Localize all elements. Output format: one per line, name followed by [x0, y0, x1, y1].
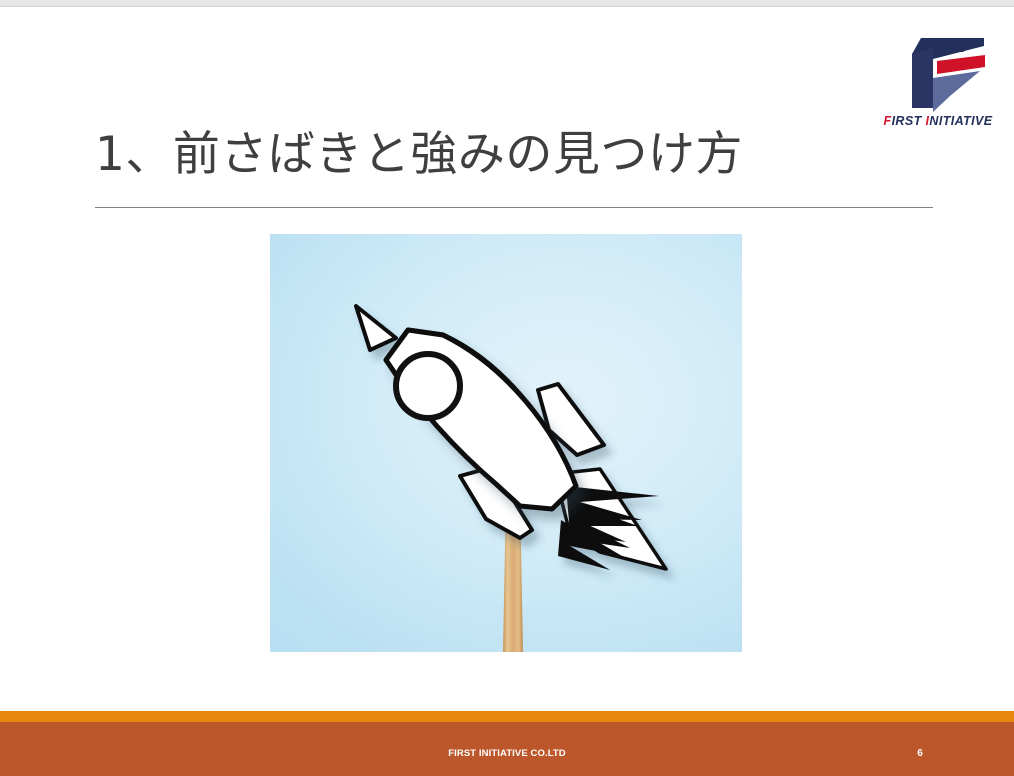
presentation-slide: FIRST INITIATIVE 1、前さばきと強みの見つけ方 [0, 8, 1014, 768]
slide-page-number: 6 [880, 748, 960, 759]
rocket-illustration [270, 234, 742, 652]
rocket-window [396, 354, 460, 418]
rocket-nose-cone [356, 306, 396, 350]
footer-accent-stripe [0, 711, 1014, 722]
footer-company-name: FIRST INITIATIVE CO.LTD [0, 748, 1014, 759]
slide-title: 1、前さばきと強みの見つけ方 [95, 126, 935, 184]
company-logo: FIRST INITIATIVE [868, 34, 1008, 138]
first-initiative-f-mark-icon [888, 34, 988, 112]
title-block: 1、前さばきと強みの見つけ方 [95, 126, 935, 184]
logo-wordmark-nitiative: NITIATIVE [929, 114, 992, 128]
title-underline-rule [95, 207, 933, 208]
window-top-bar [0, 0, 1014, 7]
